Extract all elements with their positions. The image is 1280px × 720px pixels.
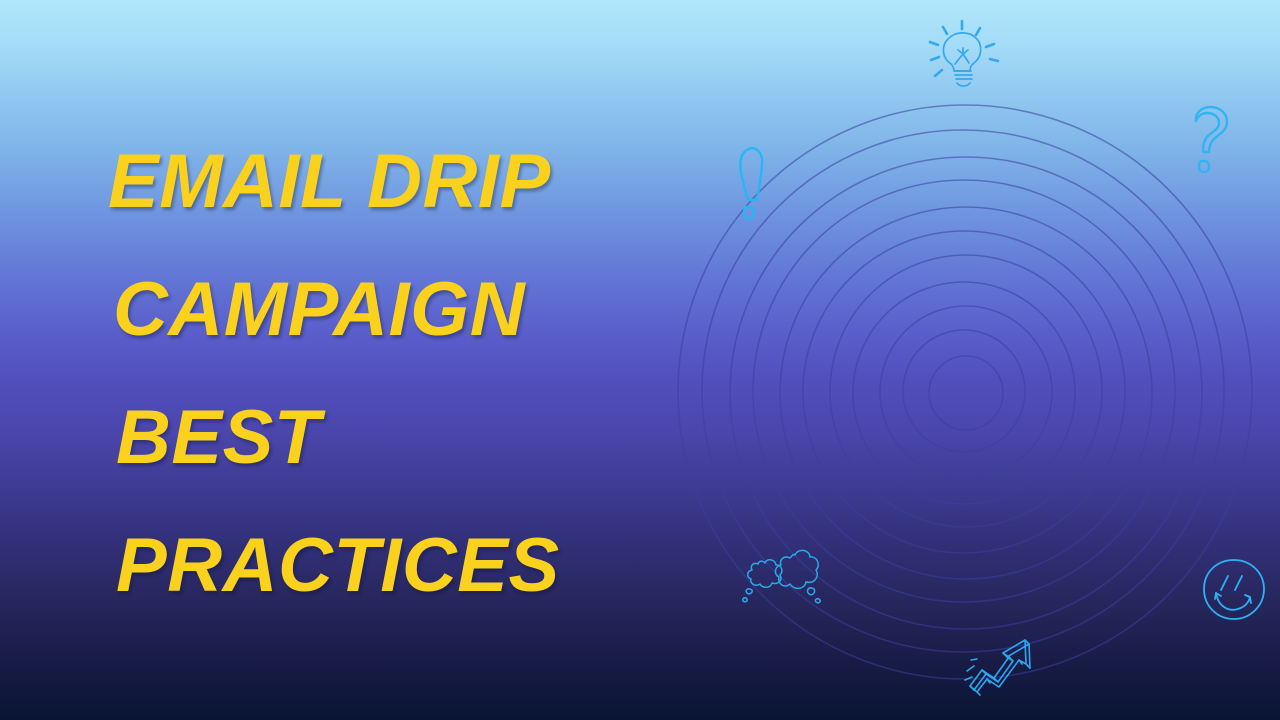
ring-11 [929,356,1003,430]
headline-line-2: CAMPAIGN [108,246,668,374]
title-slide: EMAIL DRIP CAMPAIGN BEST PRACTICES [0,0,1280,720]
ring-1 [678,105,1252,679]
ring-3 [730,157,1202,629]
smiley-face-icon [1200,556,1268,624]
ring-5 [780,207,1152,579]
ring-4 [753,180,1175,602]
zigzag-arrow-icon [962,624,1044,700]
ring-8 [853,282,1075,504]
ring-9 [880,306,1052,478]
headline-line-3: BEST [108,374,668,502]
headline-block: EMAIL DRIP CAMPAIGN BEST PRACTICES [108,118,668,630]
exclamation-icon [732,145,778,223]
headline-line-1: EMAIL DRIP [108,118,668,246]
ring-10 [903,330,1025,452]
thought-bubbles-icon [740,536,840,608]
ring-2 [702,130,1224,652]
headline-line-4: PRACTICES [108,502,668,630]
question-mark-icon [1188,104,1236,174]
ring-6 [803,231,1125,553]
lightbulb-icon [922,18,1004,94]
ring-7 [830,255,1102,527]
